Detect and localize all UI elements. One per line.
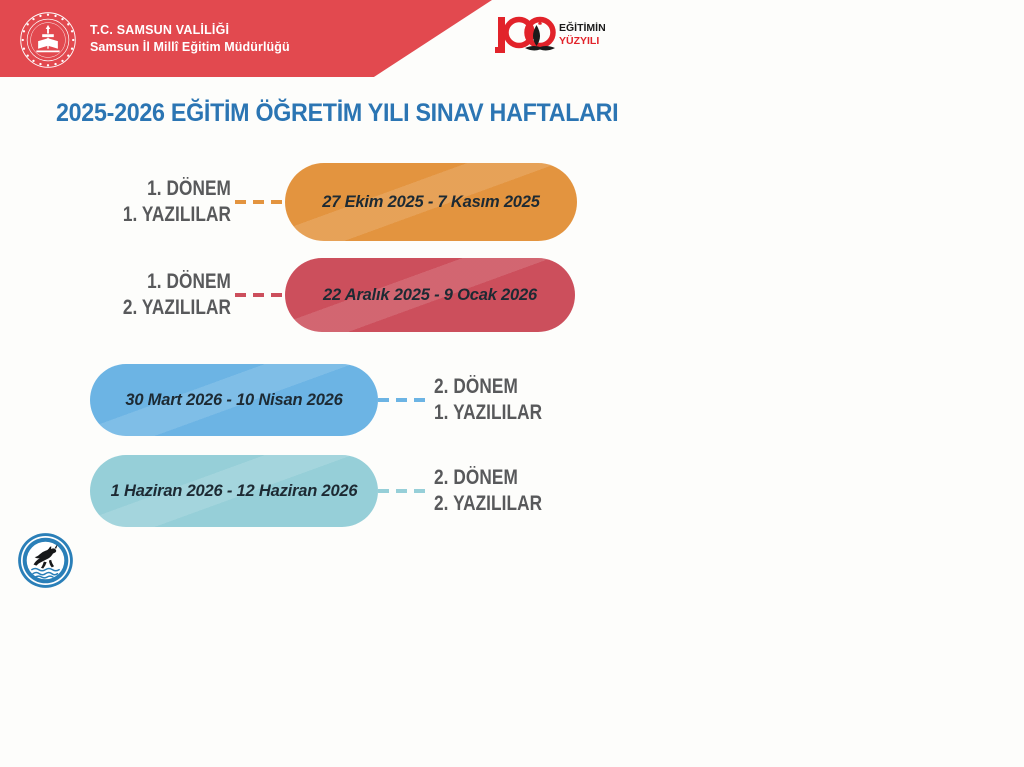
row-4-dates: 1 Haziran 2026 - 12 Haziran 2026 — [111, 482, 358, 501]
row-2-label: 1. DÖNEM 2. YAZILILAR — [119, 269, 231, 320]
row-1-connector — [235, 200, 285, 204]
row-3-date-pill[interactable]: 30 Mart 2026 - 10 Nisan 2026 — [90, 364, 378, 436]
row-3-label-line2: 1. YAZILILAR — [434, 400, 557, 426]
row-3-connector — [378, 398, 428, 402]
exam-week-row-4: 1 Haziran 2026 - 12 Haziran 2026 2. DÖNE… — [90, 455, 584, 527]
exam-week-row-2: 1. DÖNEM 2. YAZILILAR 22 Aralık 2025 - 9… — [95, 258, 575, 332]
row-1-label-line2: 1. YAZILILAR — [119, 202, 231, 228]
row-2-dates: 22 Aralık 2025 - 9 Ocak 2026 — [323, 286, 537, 305]
row-4-date-pill[interactable]: 1 Haziran 2026 - 12 Haziran 2026 — [90, 455, 378, 527]
row-4-label-line2: 2. YAZILILAR — [434, 491, 557, 517]
samsun-il-milli-egitim-emblem: SAMSUN İL MİLLÎ EĞİTİM MÜDÜRLÜĞÜ — [17, 532, 74, 589]
row-2-connector — [235, 293, 285, 297]
row-3-label: 2. DÖNEM 1. YAZILILAR — [434, 374, 557, 425]
row-2-label-line2: 2. YAZILILAR — [119, 295, 231, 321]
row-1-date-pill[interactable]: 27 Ekim 2025 - 7 Kasım 2025 — [285, 163, 577, 241]
row-1-dates: 27 Ekim 2025 - 7 Kasım 2025 — [322, 193, 540, 212]
exam-weeks-list: 1. DÖNEM 1. YAZILILAR 27 Ekim 2025 - 7 K… — [0, 0, 1024, 767]
exam-week-row-3: 30 Mart 2026 - 10 Nisan 2026 2. DÖNEM 1.… — [90, 364, 584, 436]
row-4-label-line1: 2. DÖNEM — [434, 465, 557, 491]
row-2-date-pill[interactable]: 22 Aralık 2025 - 9 Ocak 2026 — [285, 258, 575, 332]
row-1-label: 1. DÖNEM 1. YAZILILAR — [119, 176, 231, 227]
row-3-label-line1: 2. DÖNEM — [434, 374, 557, 400]
row-2-label-line1: 1. DÖNEM — [119, 269, 231, 295]
row-1-label-line1: 1. DÖNEM — [119, 176, 231, 202]
row-4-label: 2. DÖNEM 2. YAZILILAR — [434, 465, 557, 516]
row-4-connector — [378, 489, 428, 493]
row-3-dates: 30 Mart 2026 - 10 Nisan 2026 — [125, 391, 342, 410]
exam-week-row-1: 1. DÖNEM 1. YAZILILAR 27 Ekim 2025 - 7 K… — [95, 163, 577, 241]
